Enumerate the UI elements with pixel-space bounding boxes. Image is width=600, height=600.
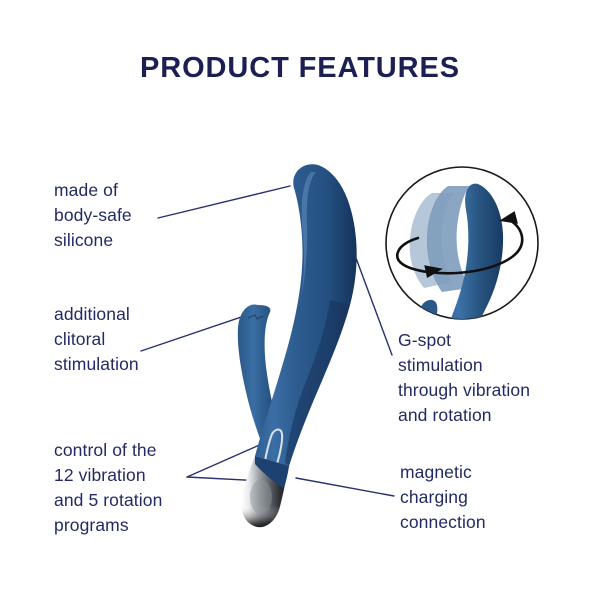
- product-body: [238, 164, 357, 527]
- leader-line-gspot: [356, 258, 392, 355]
- feature-label-silicone: made of body-safe silicone: [54, 178, 204, 253]
- product-features-infographic: PRODUCT FEATURES: [0, 0, 600, 600]
- feature-label-clitoral: additional clitoral stimulation: [54, 302, 214, 377]
- feature-label-control: control of the 12 vibration and 5 rotati…: [54, 438, 229, 538]
- base-metal-glint: [250, 480, 272, 514]
- feature-label-gspot: G-spot stimulation through vibration and…: [398, 328, 588, 428]
- leader-line-magnetic: [296, 478, 394, 496]
- feature-label-magnetic: magnetic charging connection: [400, 460, 570, 535]
